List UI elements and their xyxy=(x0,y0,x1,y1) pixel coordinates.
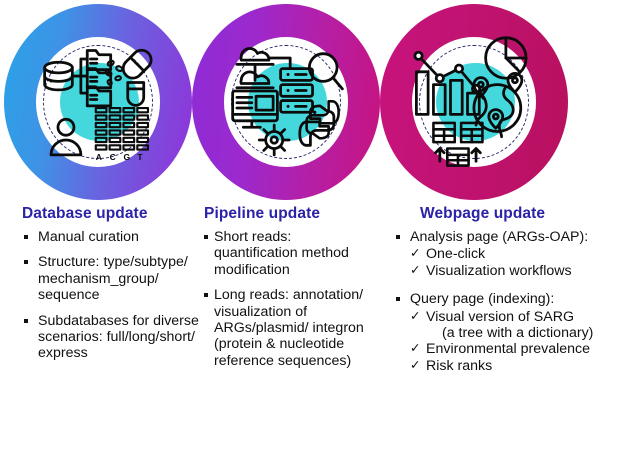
check-icon: ✓ xyxy=(410,308,420,324)
list-item: Short reads: quantification method modif… xyxy=(204,229,364,278)
column-heading-database-update: Database update xyxy=(22,205,200,223)
sub-list-item-text: Visual version of SARG xyxy=(426,309,640,325)
column-heading-pipeline-update: Pipeline update xyxy=(204,205,364,223)
bar-chart-icon xyxy=(416,72,479,115)
sub-list-item: ✓ Visual version of SARG (a tree with a … xyxy=(410,309,640,342)
list-item: Subdatabases for diverse scenarios: full… xyxy=(22,313,200,362)
column-heading-webpage-update: Webpage update xyxy=(420,205,640,223)
sub-list-item: ✓ Risk ranks xyxy=(410,358,640,374)
sub-list-item-text: Environmental prevalence xyxy=(426,341,640,357)
list-item: Structure: type/subtype/ mechanism_group… xyxy=(22,254,200,303)
bullet-list-pipeline-update: Short reads: quantification method modif… xyxy=(204,229,364,369)
list-item-text: Subdatabases for diverse scenarios: full… xyxy=(38,313,200,362)
globe-pin-icon xyxy=(474,74,522,137)
acgt-label: A xyxy=(96,153,102,163)
square-bullet-icon xyxy=(24,319,28,323)
gear-icon xyxy=(259,125,289,155)
list-item-text: Long reads: annotation/ visualization of… xyxy=(214,287,364,369)
server-stack-icon xyxy=(281,69,313,113)
square-bullet-icon xyxy=(396,235,400,239)
column-pipeline-update: Pipeline update Short reads: quantificat… xyxy=(204,205,364,378)
pie-chart-icon xyxy=(486,38,526,78)
list-item: Analysis page (ARGs-OAP): ✓ One-click ✓ … xyxy=(392,229,640,279)
text-columns: Database update Manual curation Structur… xyxy=(0,205,640,458)
person-icon xyxy=(51,120,81,156)
database-cylinder-icon xyxy=(45,63,73,91)
column-database-update: Database update Manual curation Structur… xyxy=(22,205,200,371)
list-item: Long reads: annotation/ visualization of… xyxy=(204,287,364,369)
sub-list: ✓ One-click ✓ Visualization workflows xyxy=(410,246,640,279)
sub-list-item: ✓ Environmental prevalence xyxy=(410,341,640,357)
list-item-text: Query page (indexing): xyxy=(410,291,640,307)
list-item-text: Structure: type/subtype/ mechanism_group… xyxy=(38,254,200,303)
list-item-text: Short reads: quantification method modif… xyxy=(214,229,364,278)
check-icon: ✓ xyxy=(410,340,420,356)
sub-list-item: ✓ Visualization workflows xyxy=(410,263,640,279)
folder-tree-icon xyxy=(73,51,110,106)
sub-list: ✓ Visual version of SARG (a tree with a … xyxy=(410,309,640,375)
square-bullet-icon xyxy=(396,297,400,301)
magnifier-icon xyxy=(309,54,342,89)
list-item-text: Analysis page (ARGs-OAP): xyxy=(410,229,640,245)
pill-capsule-icon xyxy=(123,51,151,106)
pipeline-update-circle xyxy=(192,4,380,200)
cloud-icon xyxy=(237,49,273,88)
check-icon: ✓ xyxy=(410,357,420,373)
sub-list-item-text: One-click xyxy=(426,246,640,262)
square-bullet-icon xyxy=(24,235,28,239)
bullet-list-database-update: Manual curation Structure: type/subtype/… xyxy=(22,229,200,362)
dna-sequence-icon xyxy=(96,108,148,150)
webpage-update-circle xyxy=(380,4,568,200)
column-webpage-update: Webpage update Analysis page (ARGs-OAP):… xyxy=(392,205,640,383)
check-icon: ✓ xyxy=(410,245,420,261)
svg-text:C: C xyxy=(110,153,116,163)
square-bullet-icon xyxy=(204,293,208,297)
square-bullet-icon xyxy=(204,235,208,239)
database-update-circle: A C G T xyxy=(4,4,192,200)
square-bullet-icon xyxy=(24,260,28,264)
bullet-list-webpage-update: Analysis page (ARGs-OAP): ✓ One-click ✓ … xyxy=(392,229,640,374)
graphic-band: A C G T xyxy=(0,0,640,205)
desktop-monitor-icon xyxy=(233,91,278,127)
svg-text:G: G xyxy=(124,153,131,163)
icon-cluster-database: A C G T xyxy=(34,35,162,168)
figure-root: A C G T xyxy=(0,0,640,458)
list-item-text: Manual curation xyxy=(38,229,200,245)
sub-list-item: ✓ One-click xyxy=(410,246,640,262)
sub-list-item-text: Visualization workflows xyxy=(426,263,640,279)
list-item: Manual curation xyxy=(22,229,200,245)
sub-list-item-continuation: (a tree with a dictionary) xyxy=(426,325,640,341)
svg-text:T: T xyxy=(137,153,143,163)
icon-cluster-webpage xyxy=(410,35,538,168)
sub-list-item-text: Risk ranks xyxy=(426,358,640,374)
check-icon: ✓ xyxy=(410,262,420,278)
list-item: Query page (indexing): ✓ Visual version … xyxy=(392,291,640,374)
icon-cluster-pipeline xyxy=(222,35,350,168)
python-logo-icon xyxy=(300,102,339,146)
